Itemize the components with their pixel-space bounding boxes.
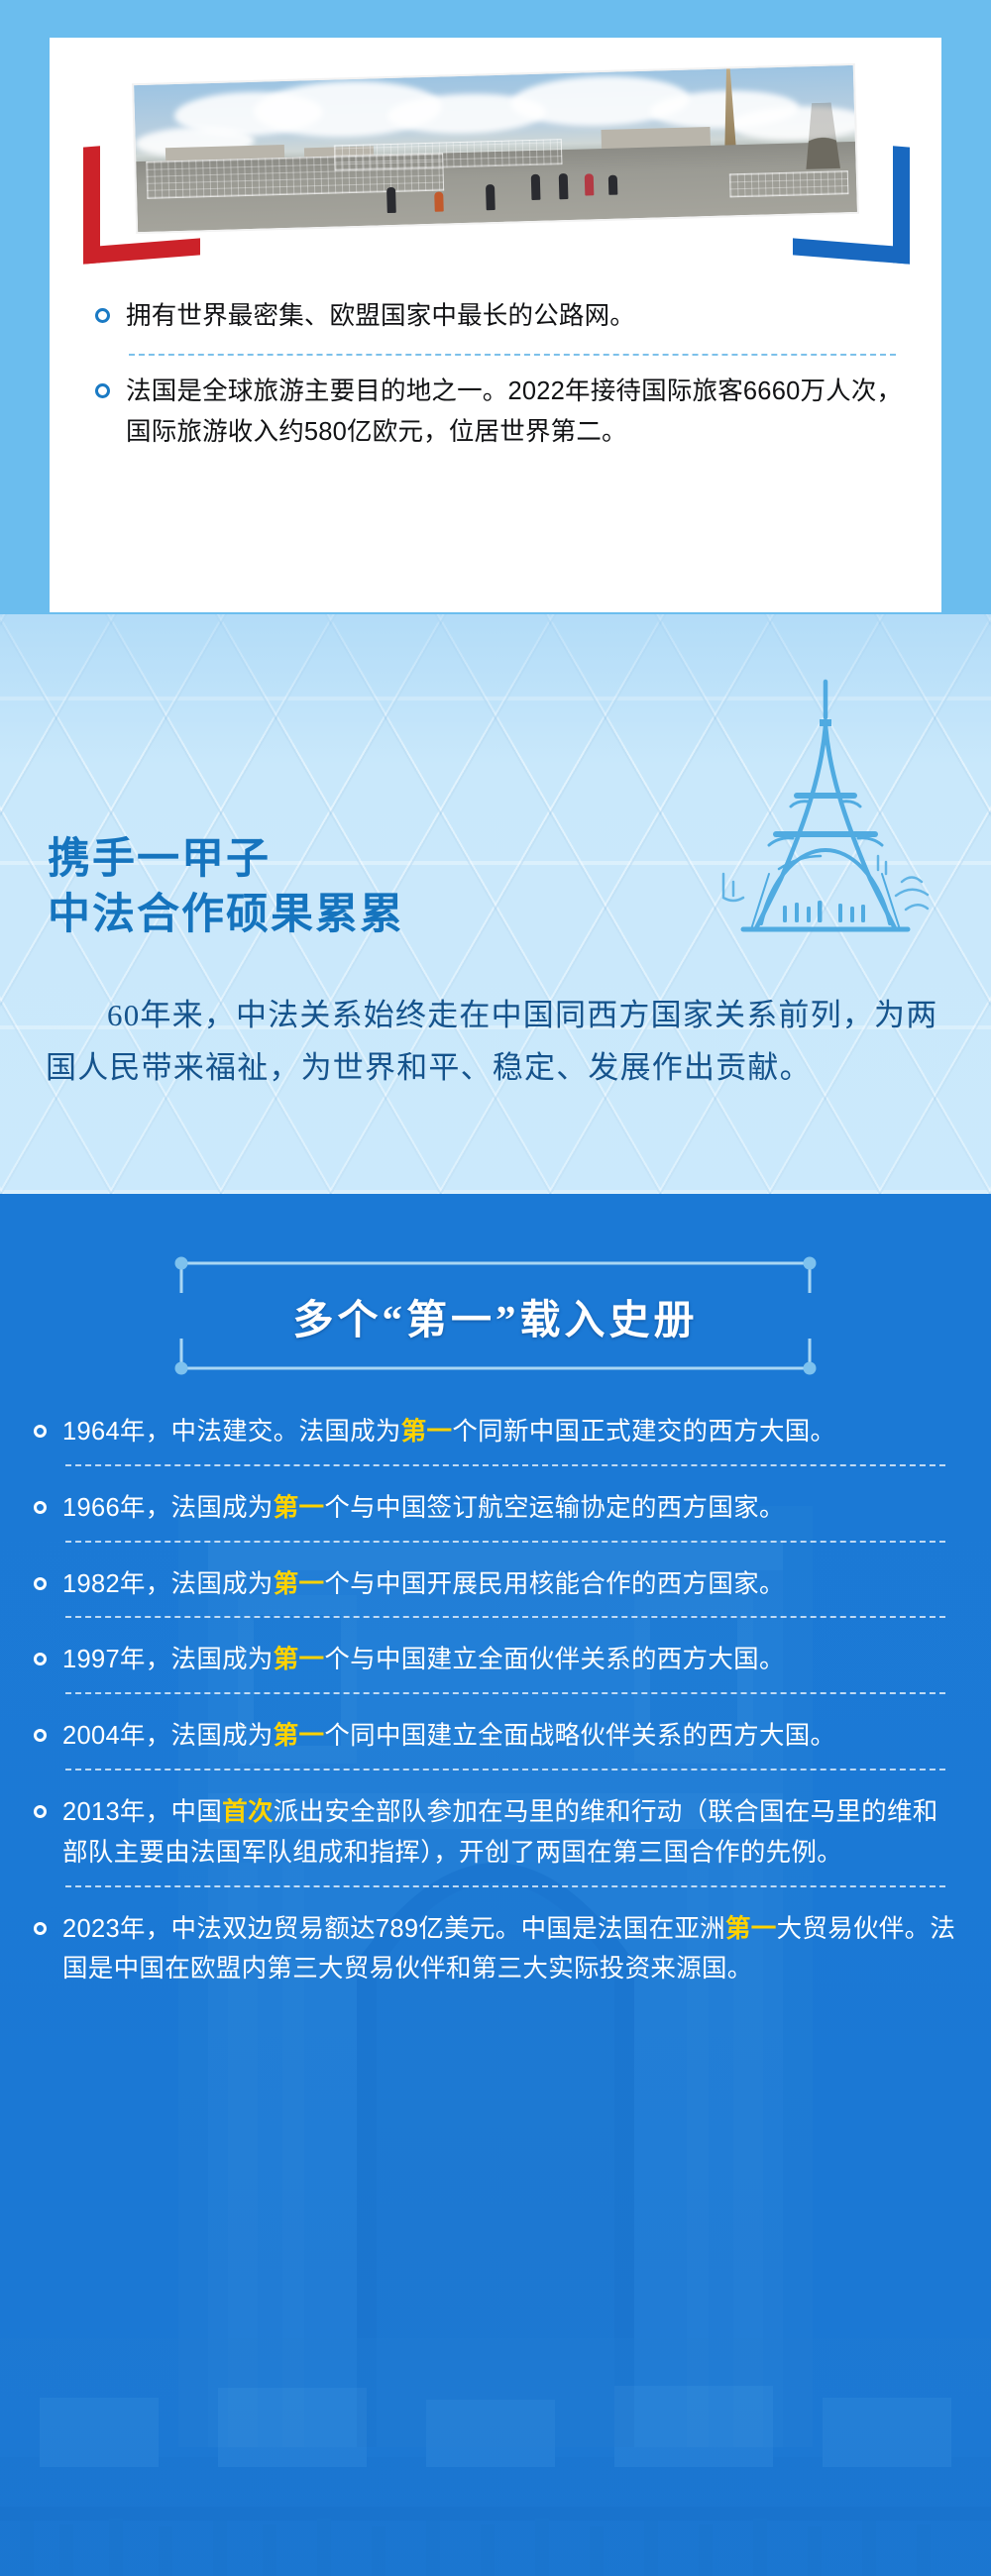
divider bbox=[65, 1541, 945, 1543]
milestone-highlight: 首次 bbox=[222, 1798, 274, 1826]
list-item: 1997年，法国成为第一个与中国建立全面伙伴关系的西方大国。 bbox=[28, 1624, 963, 1686]
milestone-highlight: 第一 bbox=[274, 1722, 325, 1750]
ring-bullet-icon bbox=[34, 1577, 47, 1590]
milestone-text: 1982年，法国成为第一个与中国开展民用核能合作的西方国家。 bbox=[62, 1564, 785, 1605]
pedestrian bbox=[486, 184, 495, 210]
milestone-highlight: 第一 bbox=[401, 1418, 453, 1446]
milestone-highlight: 第一 bbox=[725, 1915, 777, 1943]
fence-right bbox=[729, 170, 849, 197]
section-paragraph: 60年来，中法关系始终走在中国同西方国家关系前列，为两国人民带来福祉，为世界和平… bbox=[46, 989, 942, 1095]
milestone-text-post: 个与中国开展民用核能合作的西方国家。 bbox=[324, 1570, 784, 1598]
milestone-text-pre: 2023年，中法双边贸易额达789亿美元。中国是法国在亚洲 bbox=[62, 1915, 725, 1943]
milestone-text-pre: 1982年，法国成为 bbox=[62, 1570, 274, 1598]
divider bbox=[65, 1692, 945, 1694]
milestone-text-post: 个与中国签订航空运输协定的西方国家。 bbox=[324, 1494, 784, 1522]
pedestrian bbox=[585, 174, 595, 196]
ring-bullet-icon bbox=[95, 383, 110, 398]
milestone-text-pre: 1966年，法国成为 bbox=[62, 1494, 274, 1522]
white-info-card: 拥有世界最密集、欧盟国家中最长的公路网。 法国是全球旅游主要目的地之一。2022… bbox=[50, 38, 941, 612]
pedestrian bbox=[608, 175, 618, 195]
milestone-highlight: 第一 bbox=[274, 1494, 325, 1522]
milestone-text: 1997年，法国成为第一个与中国建立全面伙伴关系的西方大国。 bbox=[62, 1640, 785, 1680]
bullet-text: 拥有世界最密集、欧盟国家中最长的公路网。 bbox=[126, 296, 635, 336]
milestone-text: 2004年，法国成为第一个同中国建立全面战略伙伴关系的西方大国。 bbox=[62, 1716, 835, 1757]
heading-line-2: 中法合作硕果累累 bbox=[48, 888, 404, 943]
title-frame: 多个“第一”载入史册 bbox=[154, 1241, 837, 1390]
milestone-text-pre: 2013年，中国 bbox=[62, 1798, 222, 1826]
section-heading: 携手一甲子 中法合作硕果累累 bbox=[48, 832, 404, 943]
divider bbox=[65, 1464, 945, 1466]
photo-block bbox=[79, 73, 912, 267]
ring-bullet-icon bbox=[34, 1729, 47, 1742]
milestone-text-pre: 2004年，法国成为 bbox=[62, 1722, 274, 1750]
milestone-text-post: 个同中国建立全面战略伙伴关系的西方大国。 bbox=[324, 1722, 835, 1750]
pedestrian bbox=[559, 173, 569, 199]
list-item: 法国是全球旅游主要目的地之一。2022年接待国际旅客6660万人次，国际旅游收入… bbox=[85, 372, 906, 452]
milestone-highlight: 第一 bbox=[274, 1646, 325, 1673]
paris-place-de-la-concorde-photo bbox=[132, 63, 859, 234]
ring-bullet-icon bbox=[95, 308, 110, 323]
milestone-text-post: 个与中国建立全面伙伴关系的西方大国。 bbox=[324, 1646, 784, 1673]
divider bbox=[65, 1885, 945, 1887]
list-item: 1964年，中法建交。法国成为第一个同新中国正式建交的西方大国。 bbox=[28, 1396, 963, 1458]
list-item: 2004年，法国成为第一个同中国建立全面战略伙伴关系的西方大国。 bbox=[28, 1700, 963, 1763]
ring-bullet-icon bbox=[34, 1501, 47, 1514]
card-bullet-list: 拥有世界最密集、欧盟国家中最长的公路网。 法国是全球旅游主要目的地之一。2022… bbox=[79, 296, 912, 452]
milestone-text-pre: 1964年，中法建交。法国成为 bbox=[62, 1418, 401, 1446]
milestone-text: 1964年，中法建交。法国成为第一个同新中国正式建交的西方大国。 bbox=[62, 1412, 835, 1452]
pedestrian bbox=[434, 192, 444, 212]
milestone-text: 2013年，中国首次派出安全部队参加在马里的维和行动（联合国在马里的维和部队主要… bbox=[62, 1792, 963, 1874]
pedestrian bbox=[386, 187, 396, 213]
blue-list-section: 多个“第一”载入史册 1964年，中法建交。法国成为第一个同新中国正式建交的西方… bbox=[0, 1194, 991, 2576]
page-title: 多个“第一”载入史册 bbox=[154, 1241, 837, 1390]
hexagon-pattern-section: 携手一甲子 中法合作硕果累累 60年来，中法关系始终走在中国同西方国家关系前列，… bbox=[0, 614, 991, 1194]
bullet-text: 法国是全球旅游主要目的地之一。2022年接待国际旅客6660万人次，国际旅游收入… bbox=[126, 372, 906, 452]
ring-bullet-icon bbox=[34, 1425, 47, 1438]
eiffel-tower-line-art bbox=[721, 676, 930, 963]
top-blue-band: 拥有世界最密集、欧盟国家中最长的公路网。 法国是全球旅游主要目的地之一。2022… bbox=[0, 0, 991, 614]
list-item: 2013年，中国首次派出安全部队参加在马里的维和行动（联合国在马里的维和部队主要… bbox=[28, 1776, 963, 1879]
list-item: 2023年，中法双边贸易额达789亿美元。中国是法国在亚洲第一大贸易伙伴。法国是… bbox=[28, 1893, 963, 1996]
milestone-highlight: 第一 bbox=[274, 1570, 325, 1598]
milestone-text: 2023年，中法双边贸易额达789亿美元。中国是法国在亚洲第一大贸易伙伴。法国是… bbox=[62, 1909, 963, 1990]
divider bbox=[65, 1616, 945, 1618]
ring-bullet-icon bbox=[34, 1805, 47, 1818]
milestone-text-post: 个同新中国正式建交的西方大国。 bbox=[452, 1418, 835, 1446]
divider bbox=[65, 1769, 945, 1771]
milestone-text-pre: 1997年，法国成为 bbox=[62, 1646, 274, 1673]
milestone-text: 1966年，法国成为第一个与中国签订航空运输协定的西方国家。 bbox=[62, 1488, 785, 1529]
list-item: 拥有世界最密集、欧盟国家中最长的公路网。 bbox=[85, 296, 906, 336]
ring-bullet-icon bbox=[34, 1653, 47, 1665]
pedestrian bbox=[531, 174, 541, 200]
list-item: 1982年，法国成为第一个与中国开展民用核能合作的西方国家。 bbox=[28, 1549, 963, 1611]
ring-bullet-icon bbox=[34, 1922, 47, 1935]
heading-line-1: 携手一甲子 bbox=[48, 832, 404, 888]
divider bbox=[129, 354, 896, 356]
list-item: 1966年，法国成为第一个与中国签订航空运输协定的西方国家。 bbox=[28, 1472, 963, 1535]
milestone-list: 1964年，中法建交。法国成为第一个同新中国正式建交的西方大国。1966年，法国… bbox=[0, 1390, 991, 1995]
